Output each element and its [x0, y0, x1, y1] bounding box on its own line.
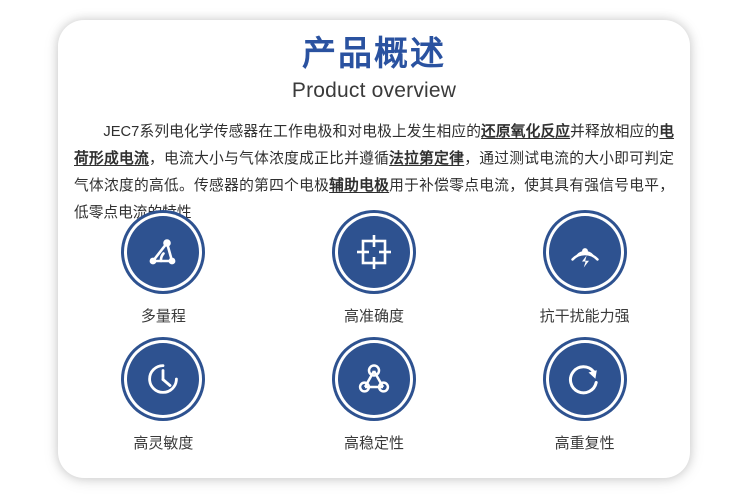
feature-item-high-sensitivity: 高灵敏度	[58, 343, 269, 454]
feature-label: 高稳定性	[344, 434, 404, 454]
signal-wave-lightning-icon	[549, 216, 621, 288]
product-overview-card: 产品概述 Product overview JEC7系列电化学传感器在工作电极和…	[58, 20, 690, 478]
page-title-zh: 产品概述	[58, 34, 690, 74]
feature-label: 抗干扰能力强	[540, 307, 630, 327]
feature-label: 高灵敏度	[133, 434, 193, 454]
clock-icon	[127, 343, 199, 415]
feature-grid: 多量程 高准确度	[58, 216, 690, 454]
feature-label: 高重复性	[555, 434, 615, 454]
page-root: 产品概述 Product overview JEC7系列电化学传感器在工作电极和…	[0, 0, 750, 498]
body-segment-1: JEC7系列电化学传感器在工作电极和对电极上发生相应的	[103, 124, 481, 140]
angle-measure-icon	[127, 216, 199, 288]
circular-arrow-refresh-icon	[549, 343, 621, 415]
feature-item-high-repeatability: 高重复性	[479, 343, 690, 454]
body-emphasis-redox: 还原氧化反应	[481, 124, 570, 140]
feature-item-anti-interference: 抗干扰能力强	[479, 216, 690, 327]
feature-row-1: 多量程 高准确度	[58, 216, 690, 327]
body-segment-2: 并释放相应的	[570, 124, 659, 140]
molecule-network-icon	[338, 343, 410, 415]
feature-item-multi-range: 多量程	[58, 216, 269, 327]
overview-paragraph: JEC7系列电化学传感器在工作电极和对电极上发生相应的还原氧化反应并释放相应的电…	[74, 119, 674, 227]
feature-label: 多量程	[141, 307, 186, 327]
feature-label: 高准确度	[344, 307, 404, 327]
feature-item-high-stability: 高稳定性	[269, 343, 480, 454]
body-emphasis-aux-electrode: 辅助电极	[329, 178, 389, 194]
body-segment-3: ，电流大小与气体浓度成正比并遵循	[149, 151, 389, 167]
page-title-en: Product overview	[58, 78, 690, 104]
crosshair-target-icon	[338, 216, 410, 288]
feature-row-2: 高灵敏度	[58, 343, 690, 454]
body-emphasis-faraday: 法拉第定律	[389, 151, 464, 167]
feature-item-high-accuracy: 高准确度	[269, 216, 480, 327]
